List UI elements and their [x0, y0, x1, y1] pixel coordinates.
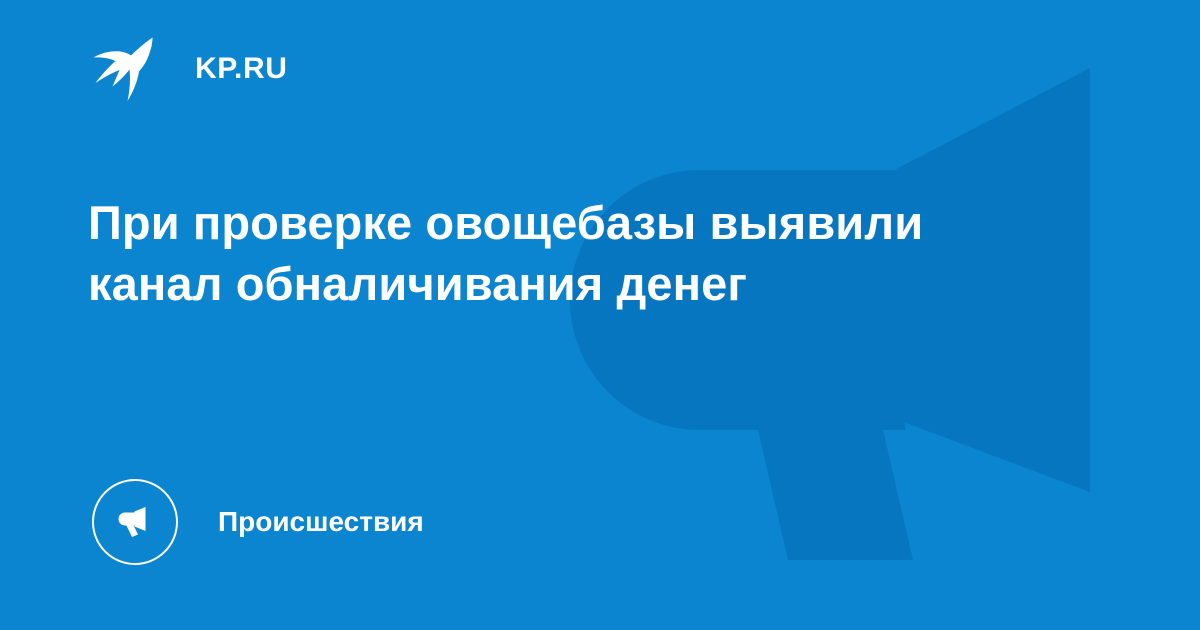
- social-share-card: KP.RU При проверке овощебазы выявили кан…: [0, 0, 1200, 630]
- rubric-label: Происшествия: [218, 508, 424, 536]
- brand-lockup[interactable]: KP.RU: [90, 30, 287, 108]
- page-title: При проверке овощебазы выявили канал обн…: [88, 192, 1008, 314]
- megaphone-icon: [92, 479, 178, 565]
- brand-name: KP.RU: [195, 54, 287, 84]
- swallow-bird-icon: [90, 33, 162, 105]
- rubric-badge-group[interactable]: Происшествия: [92, 479, 424, 565]
